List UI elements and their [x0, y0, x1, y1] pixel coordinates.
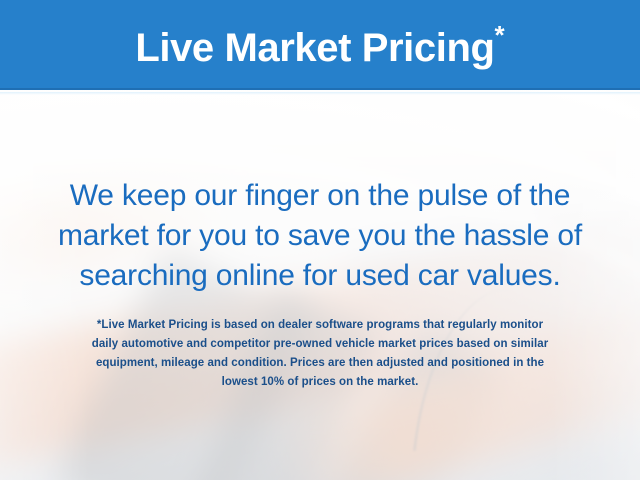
- page-title-text: Live Market Pricing: [135, 26, 494, 70]
- headline-line: searching online for used car values.: [22, 256, 618, 296]
- disclaimer-line: lowest 10% of prices on the market.: [24, 373, 616, 392]
- header-band: Live Market Pricing*: [0, 0, 640, 90]
- disclaimer-line: equipment, mileage and condition. Prices…: [24, 354, 616, 373]
- disclaimer-line: *Live Market Pricing is based on dealer …: [24, 316, 616, 335]
- page-title-asterisk: *: [495, 20, 505, 50]
- disclaimer-line: daily automotive and competitor pre-owne…: [24, 335, 616, 354]
- page-title: Live Market Pricing*: [135, 22, 504, 68]
- live-market-pricing-banner: Live Market Pricing* We keep our finger …: [0, 0, 640, 480]
- headline-line: market for you to save you the hassle of: [22, 216, 618, 256]
- content-area: We keep our finger on the pulse of the m…: [0, 90, 640, 480]
- headline: We keep our finger on the pulse of the m…: [22, 176, 618, 296]
- headline-line: We keep our finger on the pulse of the: [22, 176, 618, 216]
- disclaimer-footnote: *Live Market Pricing is based on dealer …: [24, 316, 616, 392]
- header-band-shine: [0, 92, 640, 95]
